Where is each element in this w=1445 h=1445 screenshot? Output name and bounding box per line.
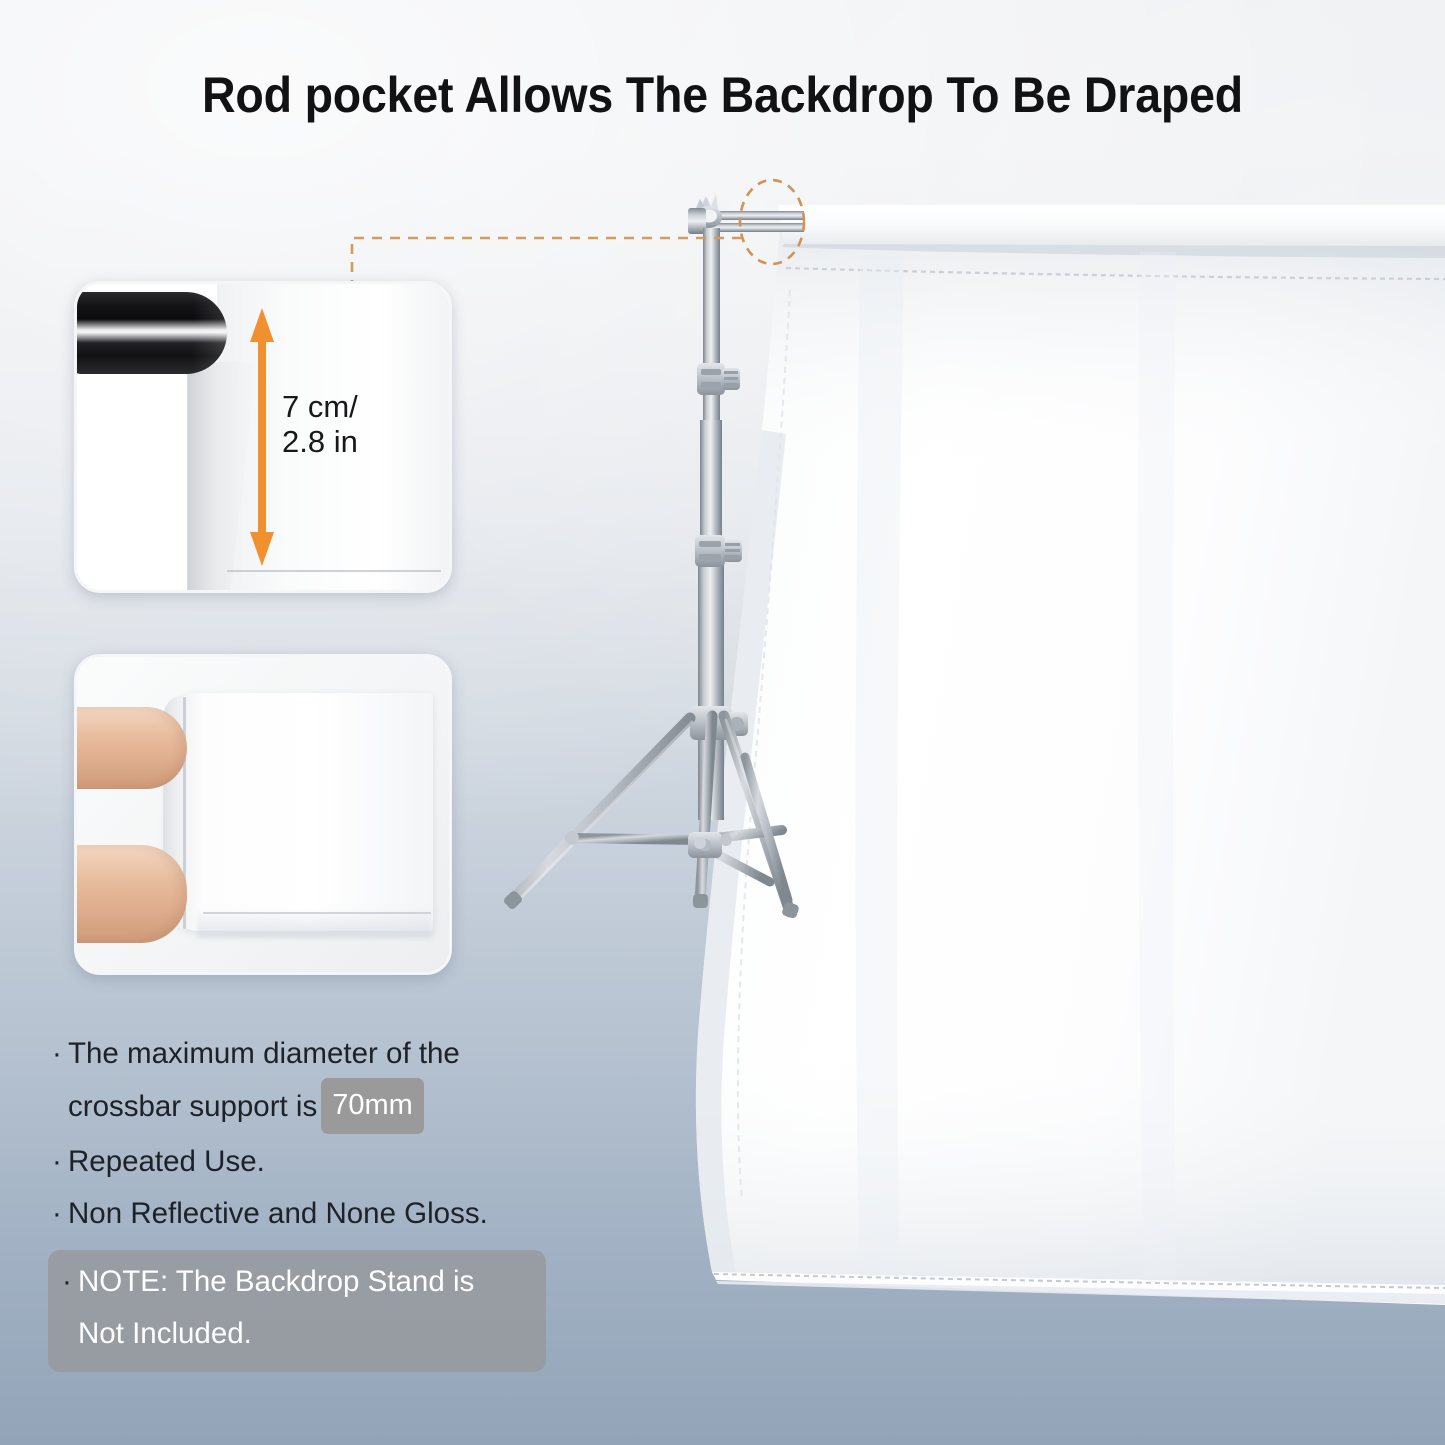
bullet-marker: · <box>52 1028 68 1080</box>
pocket-opening-photo <box>74 654 452 975</box>
note-text: NOTE: The Backdrop Stand is <box>78 1265 474 1298</box>
note-line-2: Not Included. <box>62 1308 532 1360</box>
bullet-item: ·Repeated Use. <box>52 1136 612 1188</box>
bullet-text: Non Reflective and None Gloss. <box>68 1197 488 1230</box>
product-infographic: Rod pocket Allows The Backdrop To Be Dra… <box>0 0 1445 1445</box>
bullet-item: ·Non Reflective and None Gloss. <box>52 1188 612 1240</box>
feature-bullet-list: ·The maximum diameter of the crossbar su… <box>52 1028 612 1240</box>
bullet-marker: · <box>52 1136 68 1188</box>
finger-lower <box>74 845 187 943</box>
rod-pocket-dimension-photo: 7 cm/ 2.8 in <box>74 281 452 593</box>
crossbar-diameter-badge: 70mm <box>321 1078 424 1134</box>
dimension-arrow-icon <box>249 308 275 566</box>
bullet-text: The maximum diameter of the <box>68 1037 460 1070</box>
bullet-marker: · <box>52 1188 68 1240</box>
note-text: Not Included. <box>78 1317 252 1350</box>
bullet-item-continuation: crossbar support is70mm <box>52 1080 612 1136</box>
inset1-hem-line <box>227 570 441 572</box>
fabric-pocket <box>165 693 433 931</box>
black-rod <box>74 292 227 374</box>
note-callout: ·NOTE: The Backdrop Stand is Not Include… <box>48 1250 546 1372</box>
bullet-marker: · <box>62 1256 78 1308</box>
bullet-text: crossbar support is <box>68 1090 317 1123</box>
pocket-stitch-line <box>203 912 431 914</box>
dimension-label: 7 cm/ 2.8 in <box>282 390 358 459</box>
inset1-white-panel <box>77 366 195 590</box>
finger-upper <box>74 707 187 789</box>
note-line-1: ·NOTE: The Backdrop Stand is <box>62 1256 532 1308</box>
bullet-item: ·The maximum diameter of the <box>52 1028 612 1080</box>
bullet-text: Repeated Use. <box>68 1145 265 1178</box>
